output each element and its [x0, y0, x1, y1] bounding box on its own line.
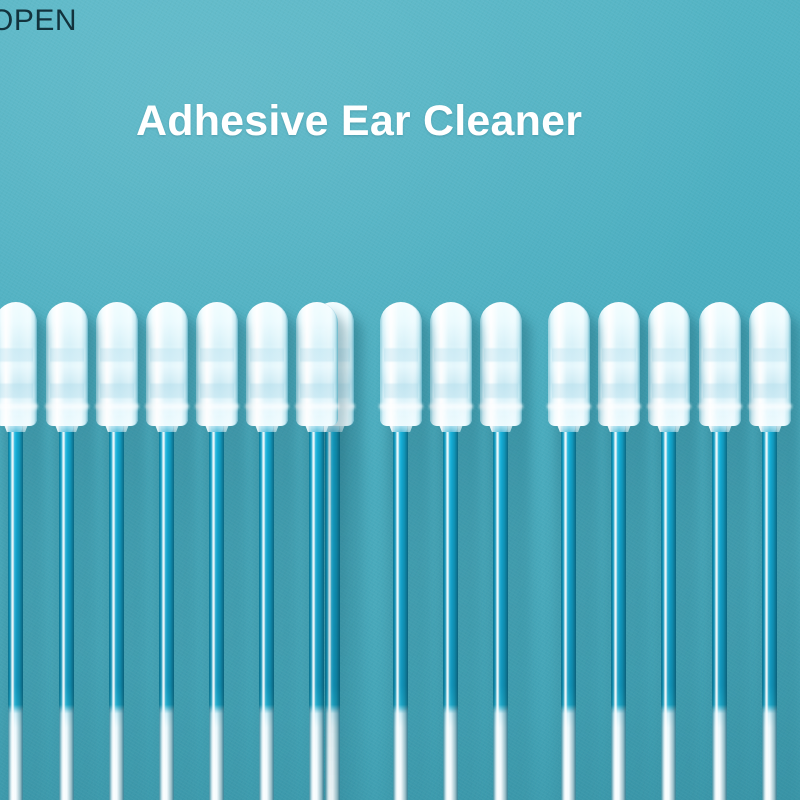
ear-cleaner-swab	[546, 302, 592, 800]
ear-cleaner-swab	[194, 302, 240, 800]
ear-cleaner-swab	[478, 302, 524, 800]
ear-cleaner-swab	[697, 302, 743, 800]
swab-cap-lip	[429, 402, 473, 411]
swab-stick-lower	[8, 710, 23, 800]
swab-cap-lip	[597, 402, 641, 411]
ear-cleaner-swab	[44, 302, 90, 800]
ear-cleaner-swab	[596, 302, 642, 800]
swab-cap-lip	[195, 402, 239, 411]
swab-cap-lip	[479, 402, 523, 411]
swab-stick-lower	[109, 710, 124, 800]
swab-stick-lower	[443, 710, 458, 800]
swab-stick-lower	[493, 710, 508, 800]
swab-stick-lower	[159, 710, 174, 800]
swab-stick-lower	[611, 710, 626, 800]
swab-cap-lip	[245, 402, 289, 411]
swab-stick-lower	[259, 710, 274, 800]
swab-cap-lip	[295, 402, 339, 411]
ear-cleaner-swab	[294, 302, 340, 800]
product-photo: OPEN Adhesive Ear Cleaner	[0, 0, 800, 800]
swab-cap-lip	[547, 402, 591, 411]
swab-stick-lower	[561, 710, 576, 800]
ear-cleaner-swab	[747, 302, 793, 800]
swab-stick-lower	[712, 710, 727, 800]
ear-cleaner-swab	[0, 302, 39, 800]
swab-cap-lip	[698, 402, 742, 411]
ear-cleaner-swab	[428, 302, 474, 800]
ear-cleaner-swab	[646, 302, 692, 800]
watermark-text: OPEN	[0, 6, 77, 36]
swab-cap-lip	[145, 402, 189, 411]
product-title: Adhesive Ear Cleaner	[136, 99, 582, 144]
swab-cap-lip	[379, 402, 423, 411]
ear-cleaner-swab	[144, 302, 190, 800]
swab-stick-lower	[762, 710, 777, 800]
swab-cap-lip	[0, 402, 38, 411]
swab-stick-lower	[393, 710, 408, 800]
swab-cap-lip	[45, 402, 89, 411]
ear-cleaner-swab	[378, 302, 424, 800]
ear-cleaner-swab	[94, 302, 140, 800]
swab-cap-lip	[95, 402, 139, 411]
swab-cap-lip	[647, 402, 691, 411]
swab-stick-lower	[309, 710, 324, 800]
swab-cap-lip	[748, 402, 792, 411]
swab-stick-lower	[209, 710, 224, 800]
swab-stick-lower	[661, 710, 676, 800]
swab-stick-lower	[59, 710, 74, 800]
ear-cleaner-swab	[244, 302, 290, 800]
